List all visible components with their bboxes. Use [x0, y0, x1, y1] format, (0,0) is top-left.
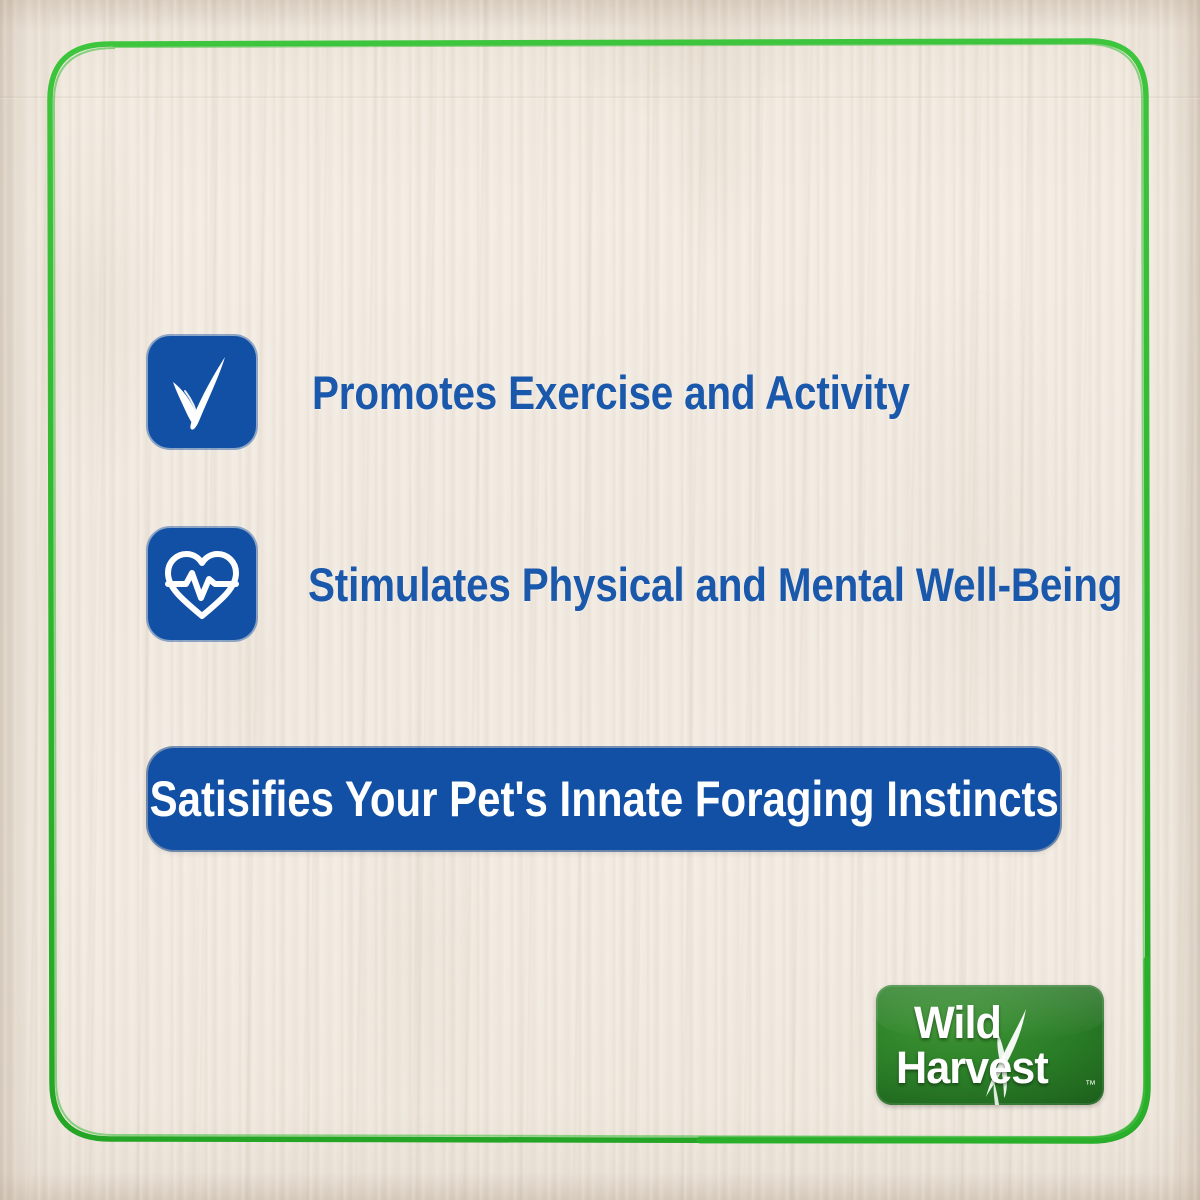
heart-pulse-icon-tile — [148, 528, 256, 640]
banner-label: Satisifies Your Pet's Innate Foraging In… — [149, 770, 1058, 828]
benefit-label: Promotes Exercise and Activity — [312, 365, 910, 420]
wood-plank-seam — [0, 96, 1200, 99]
logo-line-2: Harvest — [896, 1042, 1048, 1094]
benefit-row: Promotes Exercise and Activity — [148, 336, 1007, 448]
trademark-symbol: ™ — [1085, 1079, 1096, 1091]
wild-harvest-logo: Wild Harvest ™ — [876, 985, 1104, 1105]
poster-canvas: Promotes Exercise and Activity Stimulate… — [0, 0, 1200, 1200]
heart-pulse-icon — [161, 546, 243, 622]
benefit-row: Stimulates Physical and Mental Well-Bein… — [148, 528, 1200, 640]
checkmark-leaf-icon-tile — [148, 336, 256, 448]
foraging-banner: Satisifies Your Pet's Innate Foraging In… — [148, 748, 1060, 850]
checkmark-leaf-icon — [163, 349, 241, 435]
benefit-label: Stimulates Physical and Mental Well-Bein… — [308, 557, 1122, 612]
